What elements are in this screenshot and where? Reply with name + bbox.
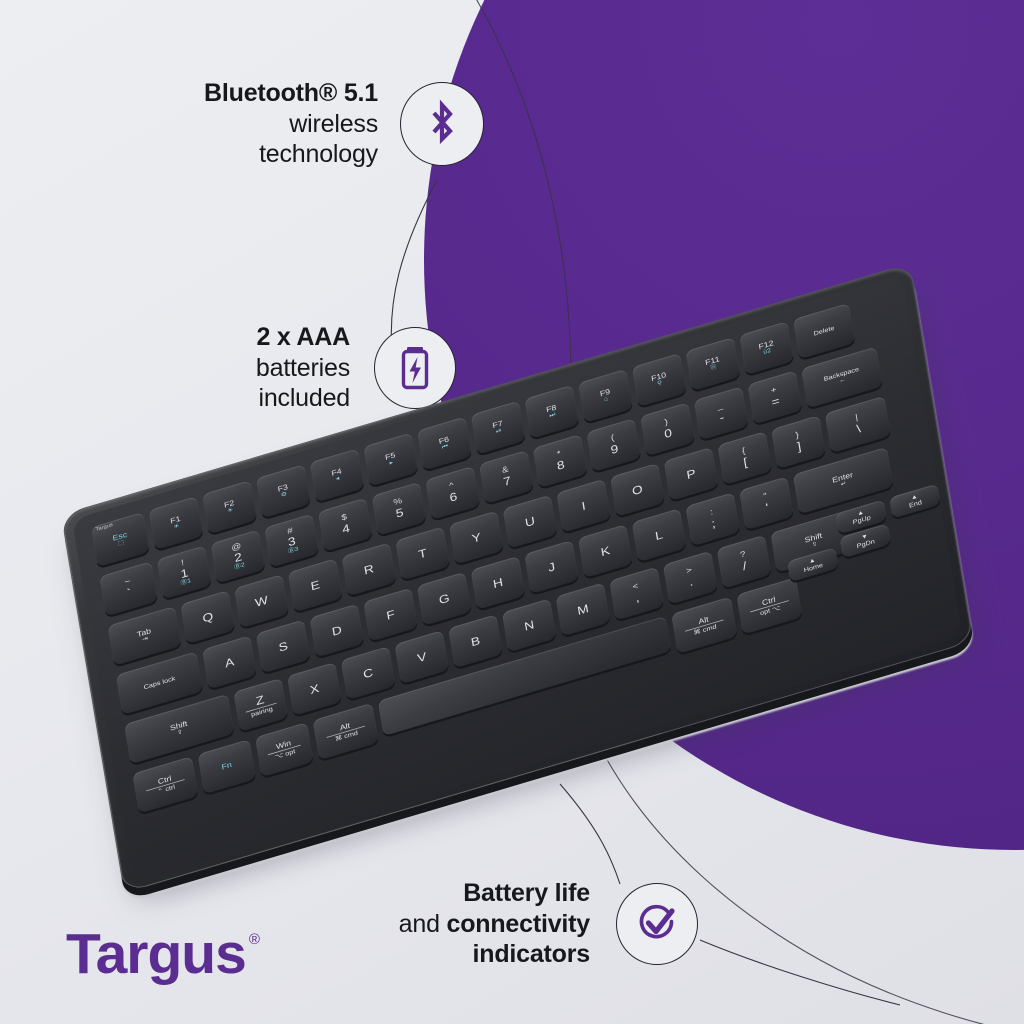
key-c[interactable]: C <box>341 646 396 700</box>
key-primary-legend: Y <box>471 530 482 544</box>
key-upper-legend: ~ <box>124 578 131 588</box>
callout-indicators-line-3: indicators <box>300 939 590 970</box>
callout-bluetooth-line-1: Bluetooth® 5.1 <box>118 78 378 109</box>
key-f7[interactable]: F7⏯ <box>471 401 526 455</box>
key-3[interactable]: #3Ⓑ3 <box>264 514 319 568</box>
key-tab[interactable]: Tab⇥ <box>108 606 182 666</box>
key-f4[interactable]: F4◂ <box>310 448 365 502</box>
battery-bolt-glyph <box>396 343 434 393</box>
key-esc[interactable]: TargusEsc⬚ <box>91 512 149 567</box>
key-primary-legend: \ <box>856 422 862 435</box>
key-9[interactable]: (9 <box>586 418 641 472</box>
key-alt[interactable]: Alt⌘ cmd <box>671 597 737 654</box>
key-w[interactable]: W <box>234 574 289 628</box>
key-primary-legend: L <box>654 528 663 542</box>
key--[interactable]: :; <box>685 492 740 546</box>
key-primary-legend: E <box>310 578 321 592</box>
key-upper-legend: ) <box>664 419 669 428</box>
key-primary-legend: K <box>600 544 611 558</box>
callout-indicators-line-2: and connectivity <box>300 909 590 940</box>
key-upper-legend: ! <box>181 559 185 568</box>
key-primary-legend: ` <box>126 586 132 599</box>
key-upper-legend: # <box>287 527 294 537</box>
callout-indicators-text: Battery life and connectivity indicators <box>300 878 590 970</box>
next-track-icon: ⏭ <box>549 412 556 420</box>
key-0[interactable]: )0 <box>640 402 695 456</box>
key-primary-legend: J <box>547 560 556 574</box>
key-primary-legend: I <box>581 499 587 512</box>
key-primary-legend: 8 <box>556 458 565 472</box>
key-upper-legend: ( <box>610 435 615 444</box>
key-i[interactable]: I <box>556 479 611 533</box>
key-6[interactable]: ^6 <box>425 466 480 520</box>
key-s[interactable]: S <box>256 620 311 674</box>
volume-down-icon: ◂ <box>335 476 339 483</box>
bluetooth-glyph <box>423 99 461 149</box>
product-feature-image: Bluetooth® 5.1 wireless technology 2 x A… <box>0 0 1024 1024</box>
key-f9[interactable]: F9⌂ <box>578 369 633 423</box>
screenshot-icon: ⎘ <box>710 364 716 371</box>
key-v[interactable]: V <box>395 630 450 684</box>
key-label: PgUp <box>852 514 871 526</box>
brightness-icon: ☀ <box>173 523 180 531</box>
key-a[interactable]: A <box>202 635 257 689</box>
key-primary-legend: , <box>634 591 640 604</box>
key-g[interactable]: G <box>417 572 472 626</box>
key-upper-legend: + <box>770 387 777 397</box>
key-upper-legend: $ <box>341 514 348 524</box>
key-primary-legend: R <box>363 562 375 577</box>
key-primary-legend: T <box>417 546 427 560</box>
callout-indicators-line-2-regular: and <box>399 910 447 938</box>
check-circle-icon <box>616 883 698 965</box>
key-primary-legend: A <box>224 655 235 669</box>
key-f5[interactable]: F5▸ <box>363 432 418 486</box>
key-2[interactable]: @2Ⓑ2 <box>211 529 266 583</box>
key-o[interactable]: O <box>610 463 665 517</box>
volume-up-icon: ▸ <box>389 460 393 467</box>
key-p[interactable]: P <box>664 447 719 501</box>
key-primary-legend: V <box>416 650 427 664</box>
key-primary-legend: 4 <box>341 522 350 536</box>
key-primary-legend: W <box>254 593 269 608</box>
key-ctrl[interactable]: Ctrlopt ⌥ <box>736 577 802 634</box>
key-d[interactable]: D <box>310 604 365 658</box>
key-b[interactable]: B <box>448 614 503 668</box>
key-upper-legend: ^ <box>449 482 455 492</box>
key-upper-legend: * <box>557 450 562 459</box>
lock-screen-icon: ὑ2 <box>763 348 771 356</box>
registered-mark: ® <box>249 931 259 948</box>
key-h[interactable]: H <box>471 556 526 610</box>
key-primary-legend: B <box>470 634 481 648</box>
key-r[interactable]: R <box>342 542 397 596</box>
key-primary-legend: G <box>438 591 450 606</box>
key-primary-legend: 6 <box>449 490 458 504</box>
key-brand-label: Targus <box>95 523 113 533</box>
key-primary-legend: Q <box>202 610 214 625</box>
key--[interactable]: ?/ <box>717 535 772 589</box>
callout-batteries-line-1: 2 x AAA <box>150 322 350 353</box>
play-pause-icon: ⏯ <box>496 428 502 435</box>
key-upper-legend: < <box>632 583 639 593</box>
key-f11[interactable]: F11⎘ <box>686 337 741 391</box>
key-arrow-glyph: ⇧ <box>811 541 818 549</box>
key-primary-legend: - <box>719 411 725 424</box>
key-n[interactable]: N <box>502 598 557 652</box>
callout-batteries-text: 2 x AAA batteries included <box>150 322 350 414</box>
key-upper-legend: | <box>855 414 859 423</box>
callout-bluetooth-text: Bluetooth® 5.1 wireless technology <box>118 78 378 170</box>
key-t[interactable]: T <box>395 526 450 580</box>
callout-indicators-line-1: Battery life <box>300 878 590 909</box>
key-primary-legend: X <box>309 682 320 696</box>
key-f[interactable]: F <box>363 588 418 642</box>
key-j[interactable]: J <box>524 540 579 594</box>
key-arrow-glyph: ⇥ <box>142 636 149 644</box>
key-primary-legend: C <box>362 666 374 681</box>
callout-bluetooth-line-2: wireless <box>118 109 378 140</box>
key-upper-legend: > <box>686 567 693 577</box>
key-primary-legend: = <box>771 395 781 409</box>
key-primary-legend: [ <box>743 456 749 469</box>
key-upper-legend: : <box>710 509 714 518</box>
check-circle-glyph <box>633 900 681 948</box>
key-7[interactable]: &7 <box>479 450 534 504</box>
key-f1[interactable]: F1☀ <box>149 496 204 550</box>
key-f12[interactable]: F12ὑ2 <box>739 321 794 375</box>
key--[interactable]: |\ <box>825 396 891 453</box>
key--[interactable]: ~` <box>99 561 157 616</box>
key-f6[interactable]: F6⏮ <box>417 417 472 471</box>
key--[interactable]: }] <box>771 415 826 469</box>
key-alt[interactable]: Alt⌘ cmd <box>313 703 379 760</box>
key-primary-legend: ' <box>765 501 770 513</box>
key-f3[interactable]: F3⚙ <box>256 464 311 518</box>
callout-indicators-line-2-bold: connectivity <box>447 910 590 938</box>
key-upper-legend: } <box>795 432 800 441</box>
brightness-up-icon: ☀ <box>227 507 234 515</box>
key-m[interactable]: M <box>556 582 611 636</box>
key-primary-legend: M <box>576 602 589 617</box>
key--[interactable]: {[ <box>717 431 772 485</box>
key-delete[interactable]: Delete <box>793 303 855 359</box>
key-arrow-glyph: ← <box>839 377 847 385</box>
targus-logo: Targus ® <box>66 921 259 987</box>
key--[interactable]: "' <box>739 476 794 530</box>
home-icon: ⌂ <box>604 396 609 403</box>
key-fn[interactable]: Fn <box>198 739 256 794</box>
key-upper-legend: _ <box>717 402 724 412</box>
key-y[interactable]: Y <box>449 511 504 565</box>
key-label: End <box>909 499 923 509</box>
key-pairing-channel: Ⓑ3 <box>288 546 299 555</box>
key-primary-legend: N <box>523 618 535 633</box>
key-primary-legend: 9 <box>610 442 619 456</box>
key-primary-legend: ] <box>796 440 802 453</box>
key-primary-legend: . <box>688 575 694 588</box>
key-e[interactable]: E <box>288 558 343 612</box>
key-pairing-channel: Ⓑ2 <box>234 562 245 571</box>
callout-batteries-line-2: batteries <box>150 353 350 384</box>
bluetooth-icon <box>400 82 484 166</box>
previous-track-icon: ⏮ <box>442 443 449 451</box>
callout-indicators: Battery life and connectivity indicators <box>300 878 698 970</box>
callout-bluetooth: Bluetooth® 5.1 wireless technology <box>118 78 484 170</box>
lock-icon: ⬚ <box>117 539 124 547</box>
key-primary-legend: U <box>524 514 536 529</box>
key-label: Delete <box>813 325 835 337</box>
key-1[interactable]: !1Ⓑ1 <box>157 545 212 599</box>
key-upper-legend: ? <box>740 551 747 561</box>
key-f8[interactable]: F8⏭ <box>525 385 580 439</box>
key-primary-legend: F <box>385 608 395 622</box>
battery-bolt-icon <box>374 327 456 409</box>
key--[interactable]: <, <box>609 567 664 621</box>
key-4[interactable]: $4 <box>318 498 373 552</box>
key-win[interactable]: Win⌥ opt <box>255 722 313 777</box>
key-primary-legend: H <box>492 576 504 591</box>
key-primary-legend: 5 <box>395 506 404 520</box>
key-label: PgDn <box>856 538 875 550</box>
key-label: Caps lock <box>143 675 176 691</box>
key-upper-legend: { <box>741 448 746 457</box>
key-q[interactable]: Q <box>180 590 235 644</box>
key--[interactable]: >. <box>663 551 718 605</box>
key-primary-legend: S <box>278 639 289 653</box>
key-arrow-glyph: ↵ <box>840 481 847 489</box>
key-arrow-glyph: ⇧ <box>177 729 184 737</box>
key-f10[interactable]: F10⚲ <box>632 353 687 407</box>
key-label: Fn <box>221 761 232 771</box>
key-f2[interactable]: F2☀ <box>202 480 257 534</box>
key-5[interactable]: %5 <box>372 482 427 536</box>
targus-wordmark: Targus <box>66 921 246 987</box>
key-primary-legend: 7 <box>502 474 511 488</box>
key-label: Home <box>803 562 823 574</box>
callout-batteries-line-3: included <box>150 383 350 414</box>
key--[interactable]: _- <box>694 386 749 440</box>
key-u[interactable]: U <box>503 495 558 549</box>
key-upper-legend: " <box>763 493 768 502</box>
key--[interactable]: += <box>748 370 803 424</box>
keyboard-light-icon: ⚙ <box>280 491 287 499</box>
key-primary-legend: D <box>331 623 343 638</box>
key-k[interactable]: K <box>578 524 633 578</box>
key-primary-legend: P <box>686 467 697 481</box>
key-primary-legend: 0 <box>663 426 672 440</box>
search-icon: ⚲ <box>657 380 663 387</box>
key-primary-legend: O <box>631 482 643 497</box>
key-z[interactable]: Zpairing <box>233 678 288 732</box>
key-pairing-channel: Ⓑ1 <box>180 578 191 587</box>
key-x[interactable]: X <box>287 662 342 716</box>
key-primary-legend: ; <box>711 517 717 530</box>
key-8[interactable]: *8 <box>533 434 588 488</box>
key-ctrl[interactable]: Ctrl⌃ ctrl <box>132 756 198 813</box>
callout-batteries: 2 x AAA batteries included <box>150 322 456 414</box>
callout-bluetooth-line-3: technology <box>118 139 378 170</box>
key-primary-legend: / <box>742 559 748 572</box>
key-l[interactable]: L <box>632 508 687 562</box>
key-end[interactable]: ▲End <box>889 484 940 519</box>
